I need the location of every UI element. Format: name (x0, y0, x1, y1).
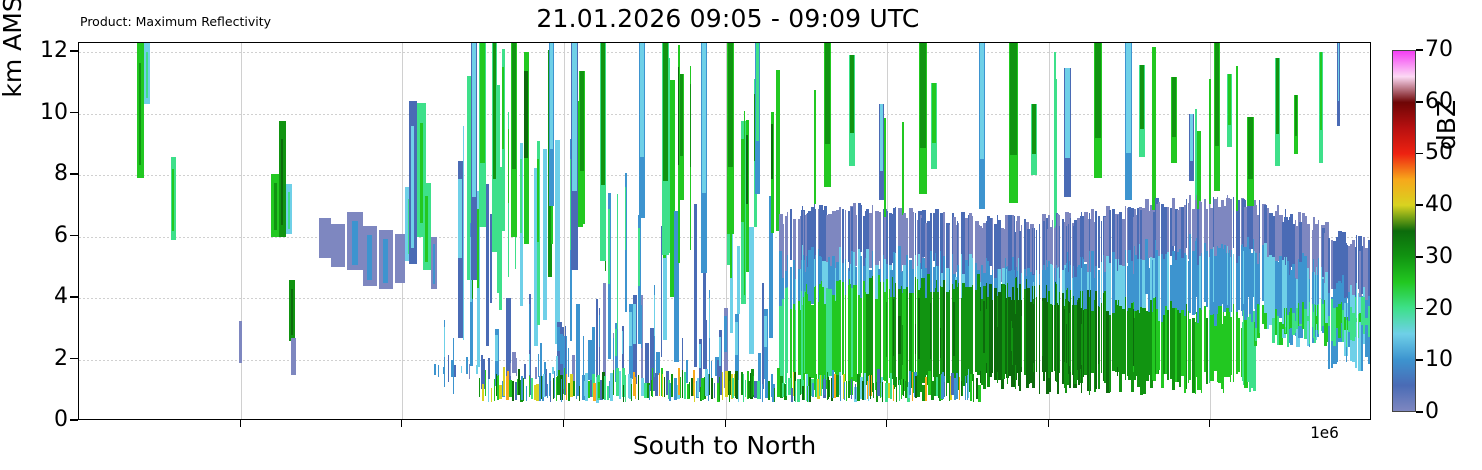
reflectivity-cell (523, 378, 524, 402)
reflectivity-cell (552, 367, 554, 374)
reflectivity-cell (564, 368, 565, 395)
plot-area (78, 42, 1371, 420)
reflectivity-cell (893, 299, 894, 356)
reflectivity-cell (1228, 74, 1231, 126)
reflectivity-cell (845, 295, 846, 381)
reflectivity-cell (485, 370, 486, 396)
reflectivity-cell (524, 71, 528, 157)
reflectivity-cell (641, 305, 642, 348)
reflectivity-cell (932, 83, 936, 143)
reflectivity-cell (880, 216, 881, 274)
reflectivity-cell (1010, 43, 1017, 155)
colorbar-tick-label: 70 (1425, 39, 1453, 61)
reflectivity-cell (461, 366, 462, 373)
reflectivity-cell (1033, 304, 1034, 363)
reflectivity-cell (1285, 209, 1286, 269)
reflectivity-cell (1238, 200, 1240, 264)
x-axis-tick (401, 420, 402, 427)
reflectivity-cell (1167, 207, 1169, 258)
reflectivity-cell (652, 368, 653, 397)
reflectivity-cell (444, 327, 445, 357)
reflectivity-cell (820, 375, 821, 396)
colorbar-tick (1416, 411, 1423, 413)
reflectivity-cell (814, 90, 816, 204)
reflectivity-cell (466, 357, 468, 375)
reflectivity-cell (915, 324, 916, 354)
reflectivity-cell (850, 55, 854, 132)
reflectivity-cell (480, 43, 485, 163)
reflectivity-cell (978, 385, 981, 401)
colorbar-tick-label: 0 (1425, 401, 1439, 423)
reflectivity-cell (829, 380, 830, 396)
reflectivity-cell (664, 377, 665, 397)
reflectivity-cell (615, 329, 617, 355)
reflectivity-cell (319, 218, 331, 258)
reflectivity-cell (544, 362, 546, 373)
reflectivity-cell (469, 364, 470, 379)
reflectivity-cell (1320, 52, 1322, 129)
reflectivity-cell (503, 367, 505, 396)
reflectivity-cell (531, 378, 533, 398)
reflectivity-cell (711, 378, 713, 399)
reflectivity-cell (663, 43, 668, 181)
reflectivity-cell (613, 370, 614, 396)
reflectivity-cell (912, 212, 914, 273)
colorbar-tick (1416, 256, 1423, 258)
reflectivity-cell (949, 290, 950, 389)
reflectivity-cell (1098, 306, 1099, 365)
reflectivity-cell (1012, 328, 1013, 365)
reflectivity-cell (520, 159, 522, 232)
colorbar-tick-label: 30 (1425, 246, 1453, 268)
reflectivity-cell (962, 381, 963, 396)
reflectivity-cell (1368, 306, 1371, 337)
reflectivity-cell (771, 124, 773, 178)
reflectivity-cell (601, 43, 605, 185)
reflectivity-cell (840, 376, 841, 401)
reflectivity-cell (959, 377, 960, 401)
colorbar-tick (1416, 101, 1423, 103)
reflectivity-cell (556, 356, 558, 376)
reflectivity-cell (1328, 316, 1330, 326)
reflectivity-cell (1285, 327, 1286, 333)
colorbar-gradient (1392, 50, 1416, 412)
reflectivity-cell (1238, 256, 1240, 310)
reflectivity-cell (481, 355, 483, 374)
reflectivity-cell (1101, 303, 1102, 373)
reflectivity-cell (1021, 316, 1022, 367)
reflectivity-cell (839, 280, 841, 380)
reflectivity-cell (1081, 324, 1082, 365)
y-axis-tick (70, 419, 78, 421)
reflectivity-cell (550, 43, 553, 149)
reflectivity-cell (1074, 306, 1076, 365)
reflectivity-cell (291, 338, 296, 375)
reflectivity-cell (1309, 302, 1310, 344)
reflectivity-cell (1236, 66, 1238, 211)
reflectivity-cell (851, 379, 852, 399)
reflectivity-cell (1368, 240, 1371, 300)
reflectivity-cell (1209, 79, 1211, 204)
reflectivity-cell (451, 360, 453, 377)
reflectivity-cell (172, 169, 174, 231)
reflectivity-cell (872, 205, 873, 251)
y-axis-tick (70, 296, 78, 298)
reflectivity-cell (680, 377, 681, 398)
reflectivity-cell (526, 386, 527, 401)
reflectivity-cell (524, 364, 526, 379)
reflectivity-cell (870, 375, 871, 399)
reflectivity-cell (1276, 58, 1279, 133)
reflectivity-cell (882, 382, 883, 401)
reflectivity-cell (592, 327, 595, 378)
reflectivity-cell (1233, 197, 1234, 248)
reflectivity-cell (1197, 131, 1201, 210)
reflectivity-cell (488, 358, 490, 379)
reflectivity-cell (864, 373, 866, 400)
reflectivity-cell (699, 344, 701, 368)
reflectivity-cell (925, 377, 927, 401)
product-subtitle: Product: Maximum Reflectivity (80, 15, 271, 29)
reflectivity-cell (970, 374, 972, 401)
reflectivity-cell (508, 129, 509, 203)
reflectivity-cell (1309, 230, 1310, 285)
reflectivity-cell (566, 374, 567, 400)
reflectivity-cell (895, 324, 896, 357)
reflectivity-cell (506, 359, 507, 376)
colorbar-tick (1416, 153, 1423, 155)
reflectivity-cell (458, 179, 462, 258)
reflectivity-cell (623, 385, 624, 402)
colorbar-tick (1416, 49, 1423, 51)
reflectivity-cell (906, 287, 908, 390)
reflectivity-cell (146, 52, 148, 98)
reflectivity-cell (529, 304, 530, 349)
reflectivity-cell (1117, 305, 1118, 367)
reflectivity-cell (743, 374, 744, 403)
reflectivity-cell (1158, 321, 1160, 370)
reflectivity-cell (568, 348, 569, 377)
reflectivity-cell (654, 295, 655, 336)
reflectivity-cell (682, 370, 683, 398)
reflectivity-cell (812, 383, 814, 397)
y-axis-tick-label: 2 (16, 348, 68, 370)
reflectivity-cell (288, 192, 290, 229)
reflectivity-cell (1033, 227, 1034, 275)
y-axis-tick (70, 173, 78, 175)
reflectivity-cell (656, 352, 660, 375)
y-axis-tick-label: 8 (16, 163, 68, 185)
reflectivity-cell (855, 215, 857, 267)
reflectivity-cell (633, 304, 636, 344)
reflectivity-cell (1227, 313, 1228, 375)
reflectivity-cell (572, 43, 577, 191)
reflectivity-cell (980, 43, 984, 159)
reflectivity-cell (495, 335, 498, 361)
reflectivity-cell (543, 149, 547, 320)
reflectivity-cell (762, 384, 763, 401)
reflectivity-cell (631, 384, 632, 401)
reflectivity-cell (274, 183, 277, 230)
reflectivity-cell (901, 379, 902, 399)
reflectivity-cell (1230, 257, 1231, 317)
reflectivity-cell (1065, 68, 1070, 158)
reflectivity-cell (1233, 304, 1234, 382)
reflectivity-cell (411, 126, 414, 248)
reflectivity-cell (756, 43, 759, 141)
colorbar-tick (1416, 359, 1423, 361)
reflectivity-cell (776, 70, 780, 230)
reflectivity-cell (619, 371, 621, 399)
reflectivity-cell (728, 43, 733, 167)
reflectivity-cell (714, 383, 715, 398)
reflectivity-cell (795, 310, 796, 378)
reflectivity-cell (937, 299, 938, 353)
reflectivity-cell (454, 365, 456, 377)
reflectivity-cell (855, 285, 857, 382)
reflectivity-cell (516, 358, 517, 376)
reflectivity-cell (729, 381, 730, 402)
reflectivity-cell (842, 282, 844, 375)
reflectivity-cell (706, 320, 707, 375)
reflectivity-cell (872, 276, 873, 382)
reflectivity-cell (573, 381, 575, 395)
reflectivity-cell (604, 376, 606, 399)
y-axis-tick (70, 112, 78, 114)
reflectivity-cell (443, 367, 445, 374)
reflectivity-cell (1052, 314, 1053, 364)
reflectivity-cell (502, 67, 504, 149)
reflectivity-cell (724, 316, 727, 352)
reflectivity-cell (689, 382, 690, 398)
colorbar-tick-label: 10 (1425, 349, 1453, 371)
reflectivity-cell (1238, 318, 1240, 371)
reflectivity-cell (702, 43, 706, 193)
reflectivity-cell (659, 373, 660, 396)
reflectivity-cell (880, 282, 881, 389)
reflectivity-cell (787, 287, 788, 372)
reflectivity-cell (684, 372, 686, 400)
reflectivity-cell (472, 43, 476, 197)
y-axis-tick (70, 358, 78, 360)
reflectivity-cell (1259, 305, 1260, 334)
reflectivity-cell (638, 228, 640, 286)
reflectivity-cell (1346, 320, 1347, 347)
reflectivity-cell (603, 283, 606, 383)
reflectivity-cell (1318, 304, 1319, 334)
reflectivity-cell (510, 363, 511, 376)
reflectivity-cell (635, 377, 636, 399)
reflectivity-cell (719, 337, 721, 366)
reflectivity-cell (640, 43, 644, 157)
reflectivity-cell (547, 384, 548, 398)
reflectivity-cell (694, 204, 697, 367)
colorbar-tick-label: 20 (1425, 298, 1453, 320)
reflectivity-cell (824, 375, 825, 396)
reflectivity-cell (1206, 251, 1208, 307)
reflectivity-cell (1109, 315, 1111, 392)
reflectivity-cell (1070, 290, 1071, 371)
reflectivity-cell (538, 354, 539, 377)
reflectivity-data (79, 43, 1370, 419)
reflectivity-cell (488, 376, 489, 402)
reflectivity-cell (580, 71, 584, 171)
reflectivity-cell (744, 111, 745, 295)
reflectivity-cell (535, 367, 537, 379)
reflectivity-cell (625, 187, 626, 250)
reflectivity-cell (845, 210, 846, 259)
reflectivity-cell (912, 372, 913, 401)
reflectivity-cell (529, 376, 530, 397)
reflectivity-cell (790, 209, 792, 260)
reflectivity-cell (448, 355, 449, 376)
reflectivity-cell (649, 385, 650, 400)
reflectivity-cell (956, 373, 958, 399)
reflectivity-cell (886, 211, 888, 272)
reflectivity-cell (896, 377, 897, 403)
reflectivity-cell (909, 371, 911, 395)
reflectivity-cell (1070, 218, 1071, 265)
reflectivity-cell (1328, 293, 1330, 368)
radar-cross-section-figure: 21.01.2026 09:05 - 09:09 UTC Product: Ma… (0, 0, 1482, 470)
reflectivity-cell (844, 382, 845, 400)
reflectivity-cell (992, 218, 993, 275)
reflectivity-cell (920, 43, 926, 148)
reflectivity-cell (719, 377, 720, 401)
reflectivity-cell (463, 126, 464, 340)
y-axis-tick (70, 50, 78, 52)
reflectivity-cell (972, 285, 973, 381)
reflectivity-cell (433, 244, 435, 283)
colorbar-tick-label: 60 (1425, 91, 1453, 113)
reflectivity-cell (479, 378, 480, 397)
reflectivity-cell (884, 118, 886, 217)
reflectivity-cell (946, 378, 947, 396)
x-axis-tick (563, 420, 564, 427)
reflectivity-cell (617, 194, 618, 328)
reflectivity-cell (1295, 95, 1297, 136)
reflectivity-cell (1152, 47, 1156, 210)
reflectivity-cell (608, 209, 610, 284)
colorbar-tick (1416, 308, 1423, 310)
reflectivity-cell (815, 286, 816, 381)
reflectivity-cell (425, 196, 428, 262)
reflectivity-cell (1227, 246, 1228, 305)
reflectivity-cell (1186, 304, 1187, 388)
reflectivity-cell (768, 381, 770, 401)
reflectivity-cell (968, 369, 969, 397)
reflectivity-cell (749, 227, 754, 354)
reflectivity-cell (550, 381, 551, 402)
reflectivity-cell (1125, 297, 1126, 380)
y-axis-tick (70, 235, 78, 237)
reflectivity-cell (656, 379, 657, 395)
reflectivity-cell (686, 360, 688, 383)
reflectivity-cell (981, 307, 982, 367)
reflectivity-cell (1259, 200, 1260, 255)
reflectivity-cell (561, 379, 562, 401)
reflectivity-cell (629, 312, 632, 346)
reflectivity-cell (596, 299, 598, 381)
reflectivity-cell (930, 303, 931, 359)
colorbar-tick-label: 50 (1425, 142, 1453, 164)
reflectivity-cell (1112, 325, 1114, 363)
reflectivity-cell (512, 43, 516, 169)
reflectivity-cell (438, 365, 439, 377)
reflectivity-cell (1206, 318, 1208, 383)
reflectivity-cell (803, 297, 804, 380)
reflectivity-cell (722, 372, 723, 400)
reflectivity-cell (331, 224, 345, 267)
reflectivity-cell (899, 380, 900, 402)
reflectivity-cell (1095, 43, 1101, 138)
reflectivity-cell (1356, 318, 1357, 321)
x-axis-tick (1209, 420, 1210, 427)
reflectivity-cell (383, 239, 388, 283)
reflectivity-cell (697, 378, 699, 397)
reflectivity-cell (491, 388, 492, 402)
reflectivity-cell (1140, 65, 1144, 130)
reflectivity-cell (529, 354, 530, 375)
reflectivity-cell (860, 298, 862, 373)
reflectivity-cell (139, 63, 141, 164)
reflectivity-cell (554, 371, 555, 398)
colorbar (1392, 50, 1416, 412)
reflectivity-cell (709, 298, 710, 338)
y-axis-tick-label: 6 (16, 225, 68, 247)
reflectivity-cell (737, 246, 740, 314)
reflectivity-cell (1043, 298, 1045, 382)
reflectivity-cell (434, 364, 436, 375)
reflectivity-cell (903, 379, 904, 395)
reflectivity-cell (855, 384, 856, 399)
reflectivity-cell (825, 43, 830, 144)
y-axis-tick-label: 10 (16, 102, 68, 124)
reflectivity-cell (795, 381, 796, 403)
reflectivity-cell (1032, 104, 1036, 153)
reflectivity-cell (774, 388, 775, 402)
reflectivity-cell (745, 380, 746, 397)
reflectivity-cell (782, 299, 784, 387)
x-axis-offset-text: 1e6 (1310, 423, 1339, 442)
reflectivity-cell (1230, 322, 1231, 381)
reflectivity-cell (694, 383, 695, 403)
reflectivity-cell (1316, 316, 1317, 324)
reflectivity-cell (1095, 309, 1096, 369)
reflectivity-cell (1227, 195, 1228, 253)
reflectivity-cell (902, 122, 904, 215)
reflectivity-cell (613, 338, 614, 360)
reflectivity-cell (735, 322, 738, 355)
reflectivity-cell (1167, 310, 1169, 380)
reflectivity-cell (1346, 243, 1347, 297)
colorbar-tick-label: 40 (1425, 194, 1453, 216)
reflectivity-cell (497, 364, 498, 376)
reflectivity-cell (1338, 43, 1339, 101)
reflectivity-cell (846, 381, 847, 401)
x-axis-label: South to North (78, 431, 1371, 461)
reflectivity-cell (1098, 216, 1100, 268)
reflectivity-cell (1186, 199, 1187, 248)
reflectivity-cell (476, 365, 478, 374)
reflectivity-cell (1201, 310, 1202, 394)
colorbar-tick (1416, 204, 1423, 206)
reflectivity-cell (804, 373, 805, 400)
reflectivity-cell (860, 205, 862, 252)
reflectivity-cell (555, 140, 560, 344)
reflectivity-cell (1316, 267, 1317, 340)
reflectivity-cell (625, 375, 626, 402)
